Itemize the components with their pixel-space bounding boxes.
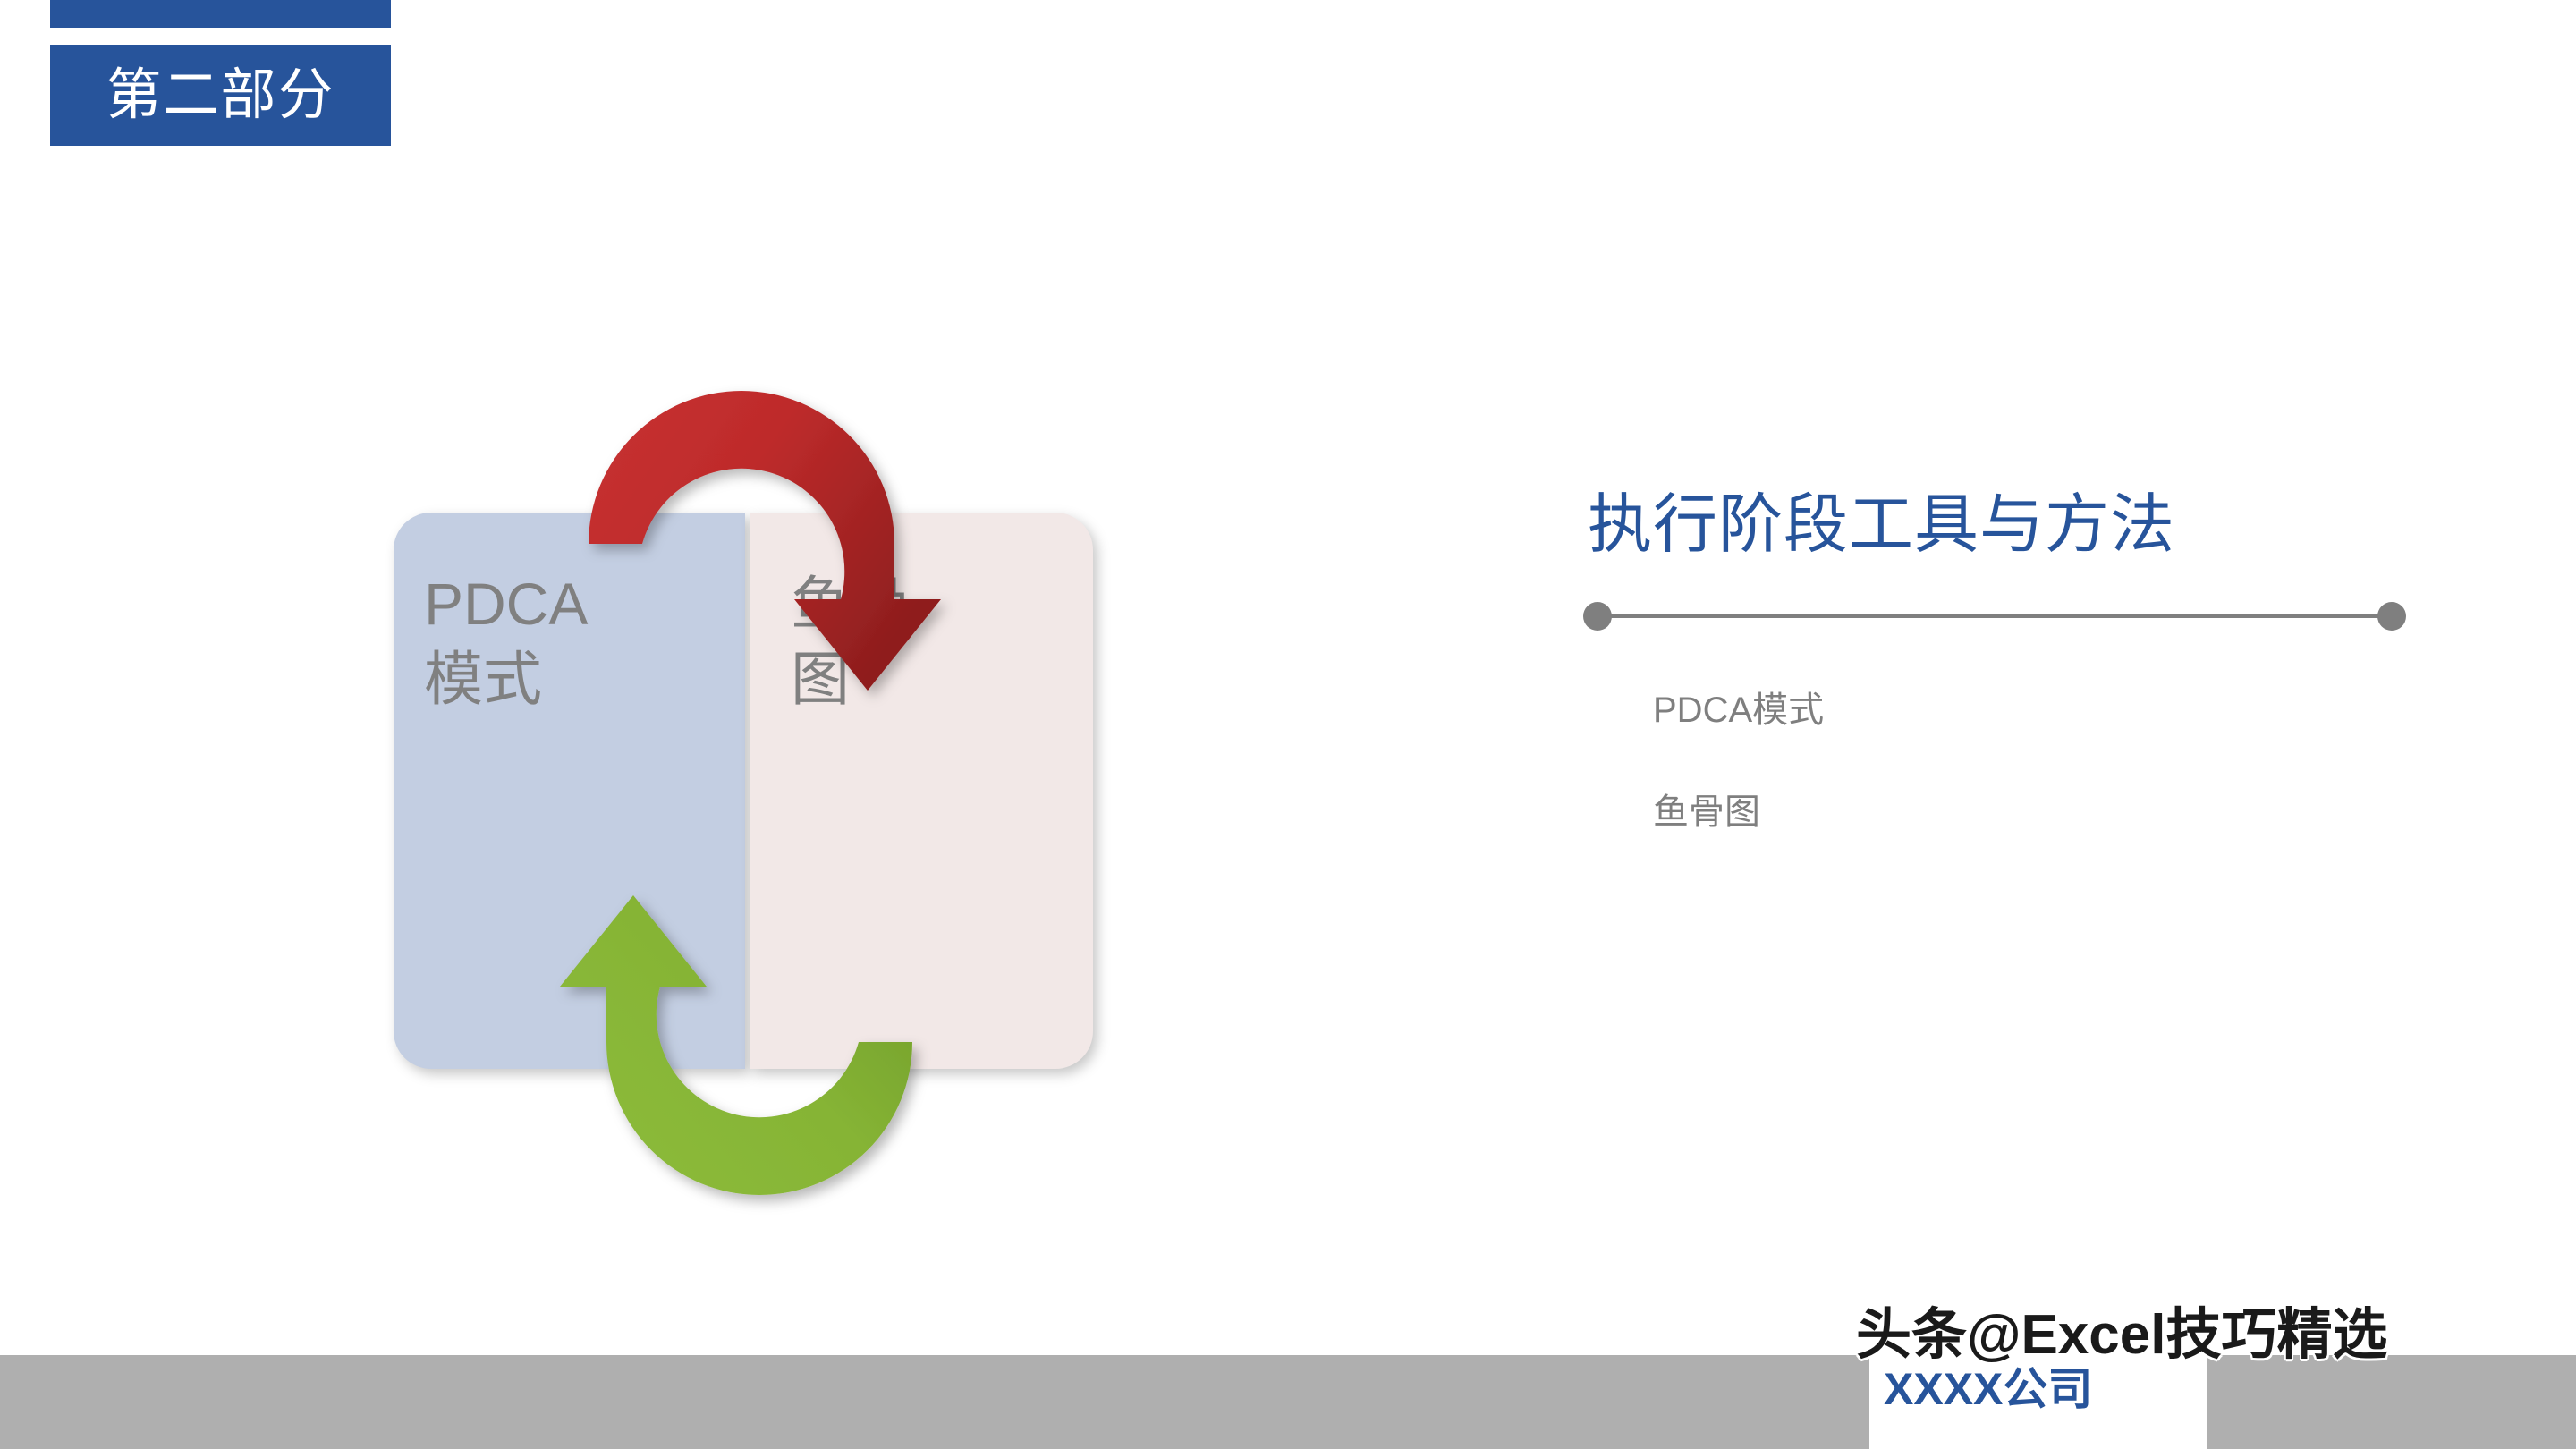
content-title: 执行阶段工具与方法 <box>1588 490 2411 561</box>
watermark-text: 头条@Excel技巧精选 <box>1856 1308 2387 1363</box>
title-divider <box>1583 590 2406 642</box>
section-marker-chip: 第二部分 <box>50 45 391 146</box>
card-fishbone-line2: 图 <box>791 641 1063 716</box>
slide-canvas: 第二部分 PDCA 模式 鱼骨 图 <box>0 0 2576 1449</box>
divider-dot-right <box>2377 602 2406 631</box>
diagram-card-fishbone[interactable]: 鱼骨 图 <box>750 513 1093 1069</box>
top-accent-rule <box>50 0 391 28</box>
footer-company-name: XXXX公司 <box>1884 1367 2092 1411</box>
content-body-item-0: PDCA模式 <box>1653 689 2458 732</box>
content-body-list: PDCA模式 鱼骨图 <box>1653 689 2458 834</box>
content-body-item-1: 鱼骨图 <box>1653 791 2458 834</box>
section-marker-label: 第二部分 <box>106 68 335 123</box>
diagram-card-pdca[interactable]: PDCA 模式 <box>394 513 745 1069</box>
card-pdca-line2: 模式 <box>424 641 715 716</box>
pdca-fishbone-cycle-diagram: PDCA 模式 鱼骨 图 <box>340 340 1163 1234</box>
card-fishbone-line1: 鱼骨 <box>791 566 1063 641</box>
card-pdca-line1: PDCA <box>424 566 715 641</box>
